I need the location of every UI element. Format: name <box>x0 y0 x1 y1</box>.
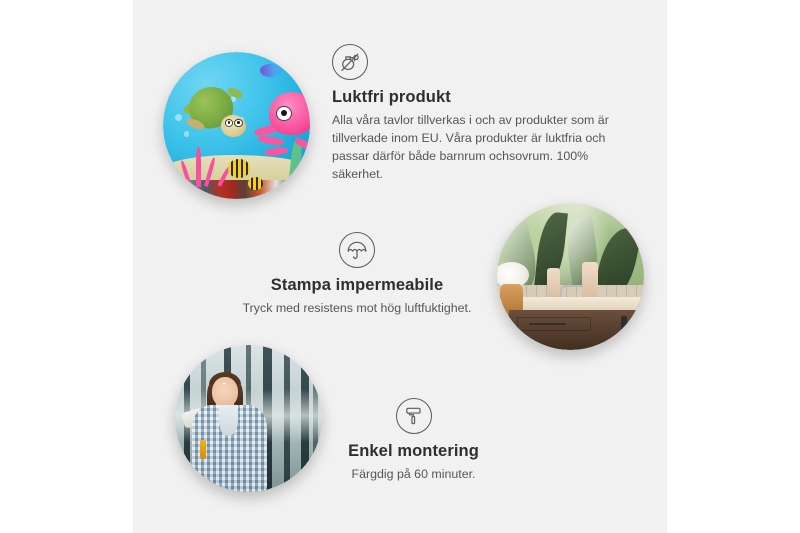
feature-body: Tryck med resistens mot hög luftfuktighe… <box>212 300 502 318</box>
feature-body: Färgdig på 60 minuter. <box>306 466 521 484</box>
feature-title: Enkel montering <box>306 442 521 461</box>
candle-object <box>547 268 560 300</box>
feature-odor-free: Luktfri produkt Alla våra tavlor tillver… <box>332 44 624 184</box>
hand-tool-object <box>200 440 206 459</box>
yellow-fish-icon <box>248 177 263 190</box>
sea-turtle-icon <box>185 87 247 140</box>
coral-icon <box>176 143 226 187</box>
feature-easy-mounting: Enkel montering Färgdig på 60 minuter. <box>306 398 521 484</box>
feature-body: Alla våra tavlor tillverkas i och av pro… <box>332 112 624 184</box>
wooden-vanity <box>509 310 644 350</box>
umbrella-icon <box>339 232 375 268</box>
woman-painter-forest-photo <box>175 345 322 492</box>
feature-title: Stampa impermeabile <box>212 276 502 295</box>
paint-roller-icon <box>396 398 432 434</box>
bathroom-leaf-wallpaper-photo <box>497 203 644 350</box>
face <box>212 377 238 408</box>
feature-waterproof: Stampa impermeabile Tryck med resistens … <box>212 232 502 318</box>
candle-object <box>582 262 598 300</box>
woman-figure <box>187 374 272 492</box>
product-feature-panel: Luktfri produkt Alla våra tavlor tillver… <box>0 0 800 533</box>
feature-title: Luktfri produkt <box>332 88 624 107</box>
underwater-cartoon-photo <box>163 52 310 199</box>
no-fragrance-icon <box>332 44 368 80</box>
octopus-icon <box>254 92 310 163</box>
blue-fish-icon <box>260 64 281 77</box>
